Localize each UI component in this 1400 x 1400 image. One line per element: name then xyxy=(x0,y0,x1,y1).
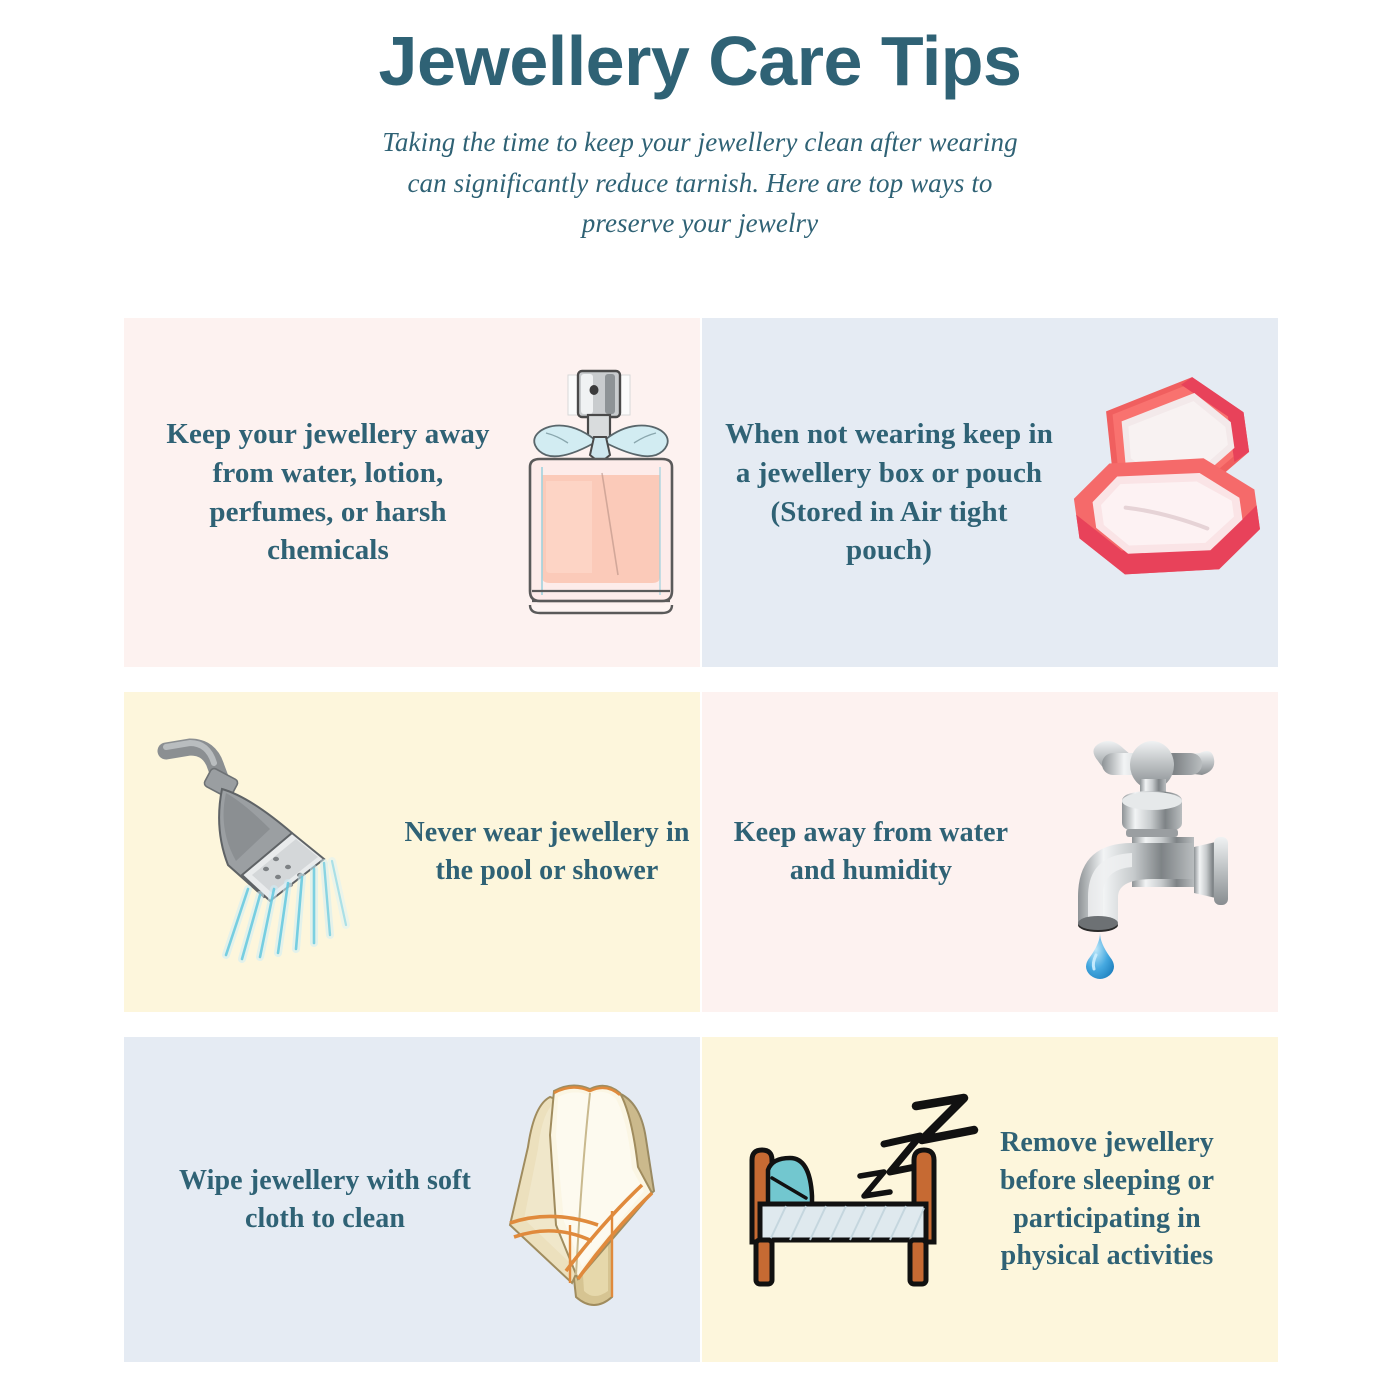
tip-card-1-text: Keep your jewellery away from water, lot… xyxy=(152,415,504,570)
page-subtitle: Taking the time to keep your jewellery c… xyxy=(380,122,1020,244)
page-title: Jewellery Care Tips xyxy=(0,22,1400,100)
tip-card-4-text: Keep away from water and humidity xyxy=(726,814,1016,889)
header: Jewellery Care Tips Taking the time to k… xyxy=(0,0,1400,244)
faucet-drip-icon xyxy=(1044,727,1254,977)
tip-card-3-text: Never wear jewellery in the pool or show… xyxy=(397,814,697,889)
tip-card-4[interactable]: Keep away from water and humidity xyxy=(702,692,1278,1012)
tips-grid: Keep your jewellery away from water, lot… xyxy=(124,318,1278,1362)
cloth-icon xyxy=(494,1075,684,1325)
perfume-bottle-icon xyxy=(506,363,696,623)
shower-head-icon xyxy=(164,737,379,967)
bed-sleep-icon xyxy=(728,1092,948,1307)
infographic-page: Jewellery Care Tips Taking the time to k… xyxy=(0,0,1400,1400)
ring-box-icon xyxy=(1058,368,1273,618)
tip-card-5[interactable]: Wipe jewellery with soft cloth to clean xyxy=(124,1037,700,1362)
tip-card-3[interactable]: Never wear jewellery in the pool or show… xyxy=(124,692,700,1012)
tip-card-1[interactable]: Keep your jewellery away from water, lot… xyxy=(124,318,700,667)
tip-card-2[interactable]: When not wearing keep in a jewellery box… xyxy=(702,318,1278,667)
tip-card-6-text: Remove jewellery before sleeping or part… xyxy=(972,1124,1242,1274)
tip-card-5-text: Wipe jewellery with soft cloth to clean xyxy=(170,1162,480,1237)
tip-card-2-text: When not wearing keep in a jewellery box… xyxy=(724,415,1054,570)
tip-card-6[interactable]: Remove jewellery before sleeping or part… xyxy=(702,1037,1278,1362)
